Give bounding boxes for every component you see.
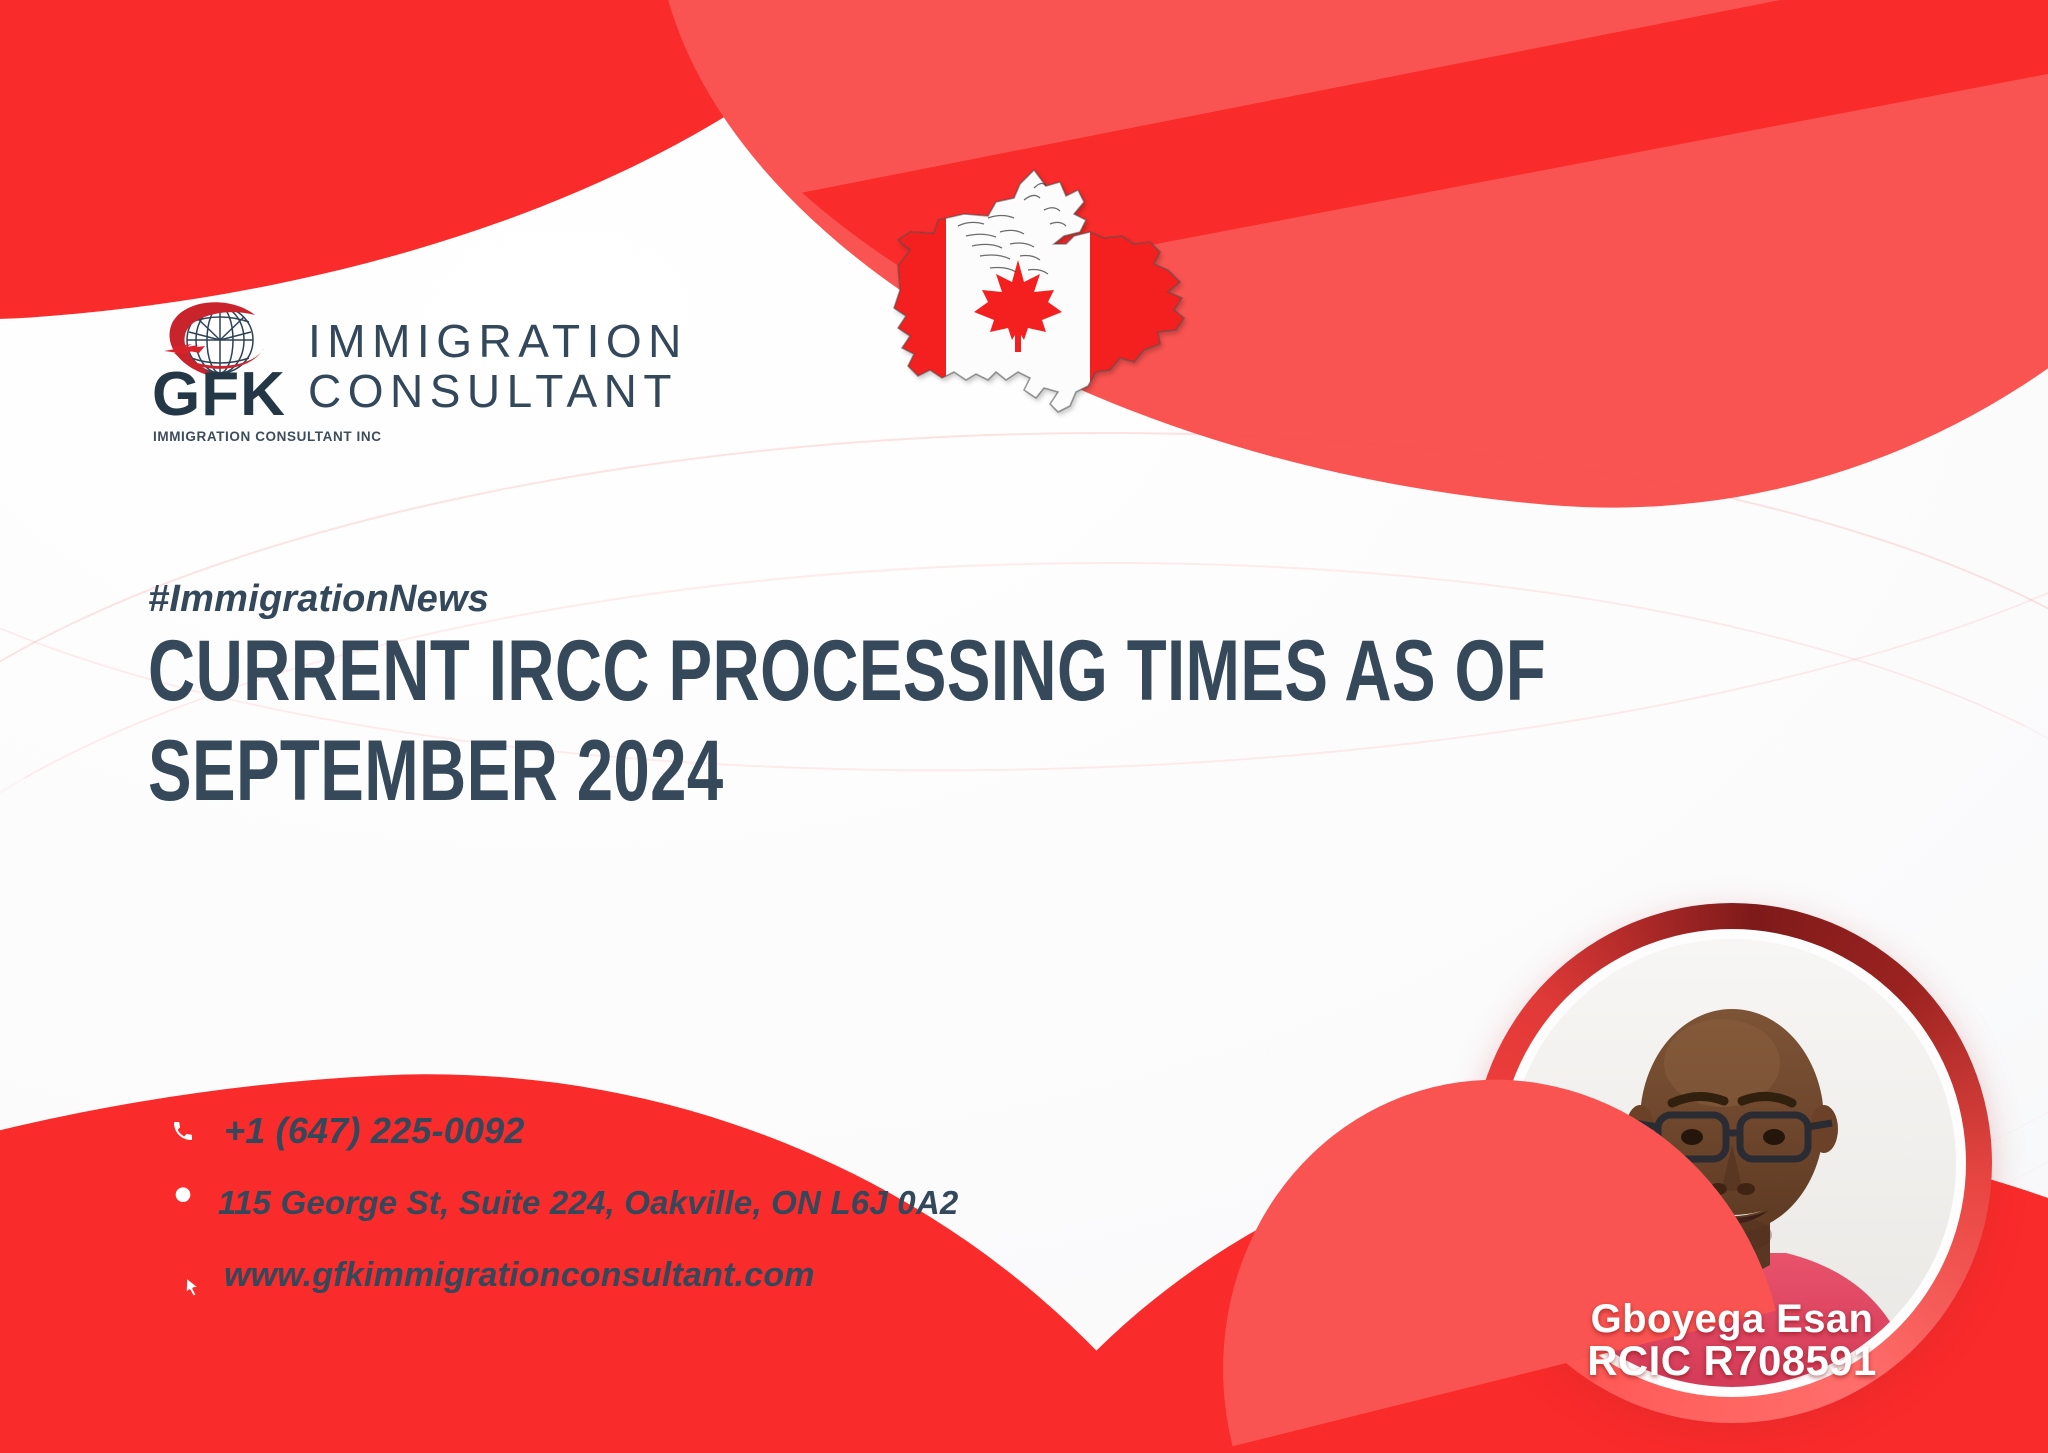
contact-website-label: www.gfkimmigrationconsultant.com [224,1256,815,1295]
consultant-name: Gboyega Esan [1472,1299,1992,1340]
canada-map-flag-icon [838,140,1198,440]
brand-logo: GFK IMMIGRATION CONSULTANT INC IMMIGRATI… [150,296,688,444]
contact-address-label: 115 George St, Suite 224, Oakville, ON L… [218,1184,958,1222]
logo-wordmark-gfk: GFK [152,364,286,426]
page-title-line1: CURRENT IRCC PROCESSING TIMES AS OF [148,622,1136,722]
logo-mark: GFK IMMIGRATION CONSULTANT INC [150,296,282,444]
contact-phone[interactable]: +1 (647) 225-0092 [148,1095,958,1167]
contact-list: +1 (647) 225-0092 115 George St, Suite 2… [148,1095,958,1311]
brand-wordmark-line2: CONSULTANT [308,367,688,417]
page-title: CURRENT IRCC PROCESSING TIMES AS OF SEPT… [148,622,1136,822]
location-pin-icon [148,1176,218,1230]
poster-canvas: GFK IMMIGRATION CONSULTANT INC IMMIGRATI… [0,0,2048,1453]
contact-phone-label: +1 (647) 225-0092 [224,1110,525,1152]
globe-cursor-icon [148,1252,218,1298]
brand-wordmark: IMMIGRATION CONSULTANT [308,317,688,416]
contact-website[interactable]: www.gfkimmigrationconsultant.com [148,1239,958,1311]
consultant-credential: RCIC R708591 [1472,1340,1992,1383]
brand-wordmark-line1: IMMIGRATION [308,317,688,367]
logo-tagline: IMMIGRATION CONSULTANT INC [153,429,382,444]
phone-icon [148,1108,218,1154]
poster-content: GFK IMMIGRATION CONSULTANT INC IMMIGRATI… [0,0,2048,1453]
page-title-line2: SEPTEMBER 2024 [148,722,1136,822]
contact-address[interactable]: 115 George St, Suite 224, Oakville, ON L… [148,1167,958,1239]
hashtag-label: #ImmigrationNews [148,578,489,621]
consultant-nameplate: Gboyega Esan RCIC R708591 [1472,1299,1992,1383]
